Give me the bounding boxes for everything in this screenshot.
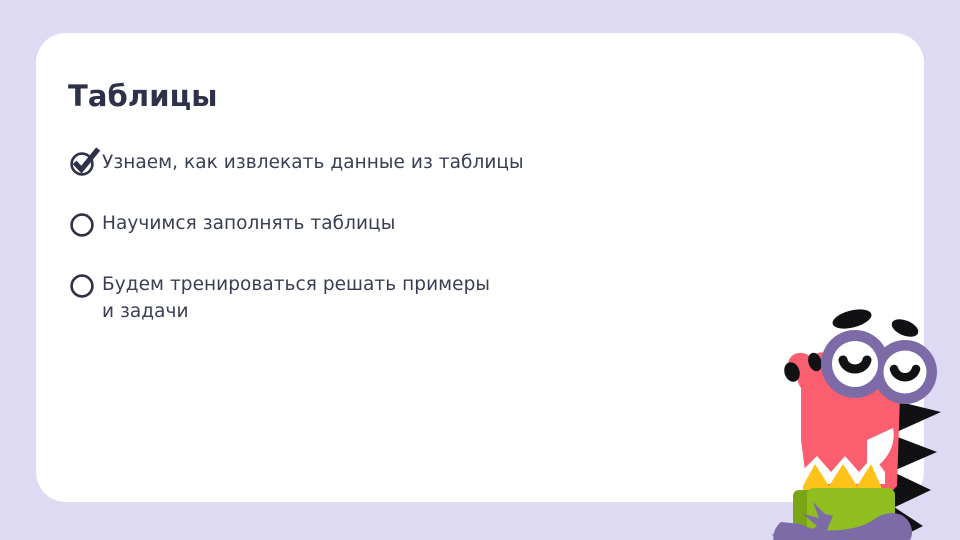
arms-icon: [769, 502, 912, 540]
list-item-label: Научимся заполнять таблицы: [102, 209, 708, 237]
list-item-label: Узнаем, как извлекать данные из таблицы: [102, 148, 708, 176]
list-item: Будем тренироваться решать примеры и зад…: [68, 270, 708, 326]
list-item: Научимся заполнять таблицы: [68, 209, 708, 239]
list-item: Узнаем, как извлекать данные из таблицы: [68, 148, 708, 178]
check-circle-icon: [68, 149, 102, 178]
list-item-label: Будем тренироваться решать примеры и зад…: [102, 270, 708, 326]
objectives-list: Узнаем, как извлекать данные из таблицы …: [68, 148, 708, 326]
slide-root: Таблицы Узнаем, как извлекать данные из …: [0, 0, 960, 540]
page-title: Таблицы: [68, 80, 218, 113]
empty-circle-icon: [68, 271, 102, 300]
empty-circle-icon: [68, 210, 102, 239]
